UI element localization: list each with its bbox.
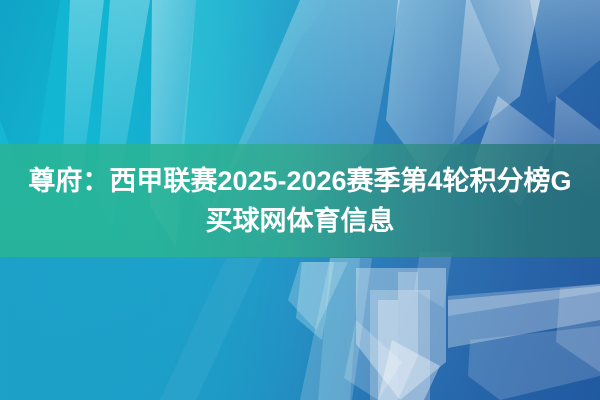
banner-image: 尊府：西甲联赛2025-2026赛季第4轮积分榜G 买球网体育信息 <box>0 0 600 400</box>
title-line-1: 尊府：西甲联赛2025-2026赛季第4轮积分榜G <box>28 161 571 201</box>
shape-top-right-facet-c <box>530 0 600 104</box>
shape-lower-left-streak <box>160 258 262 400</box>
title-block: 尊府：西甲联赛2025-2026赛季第4轮积分榜G 买球网体育信息 <box>0 144 600 257</box>
title-line-2: 买球网体育信息 <box>206 201 395 241</box>
